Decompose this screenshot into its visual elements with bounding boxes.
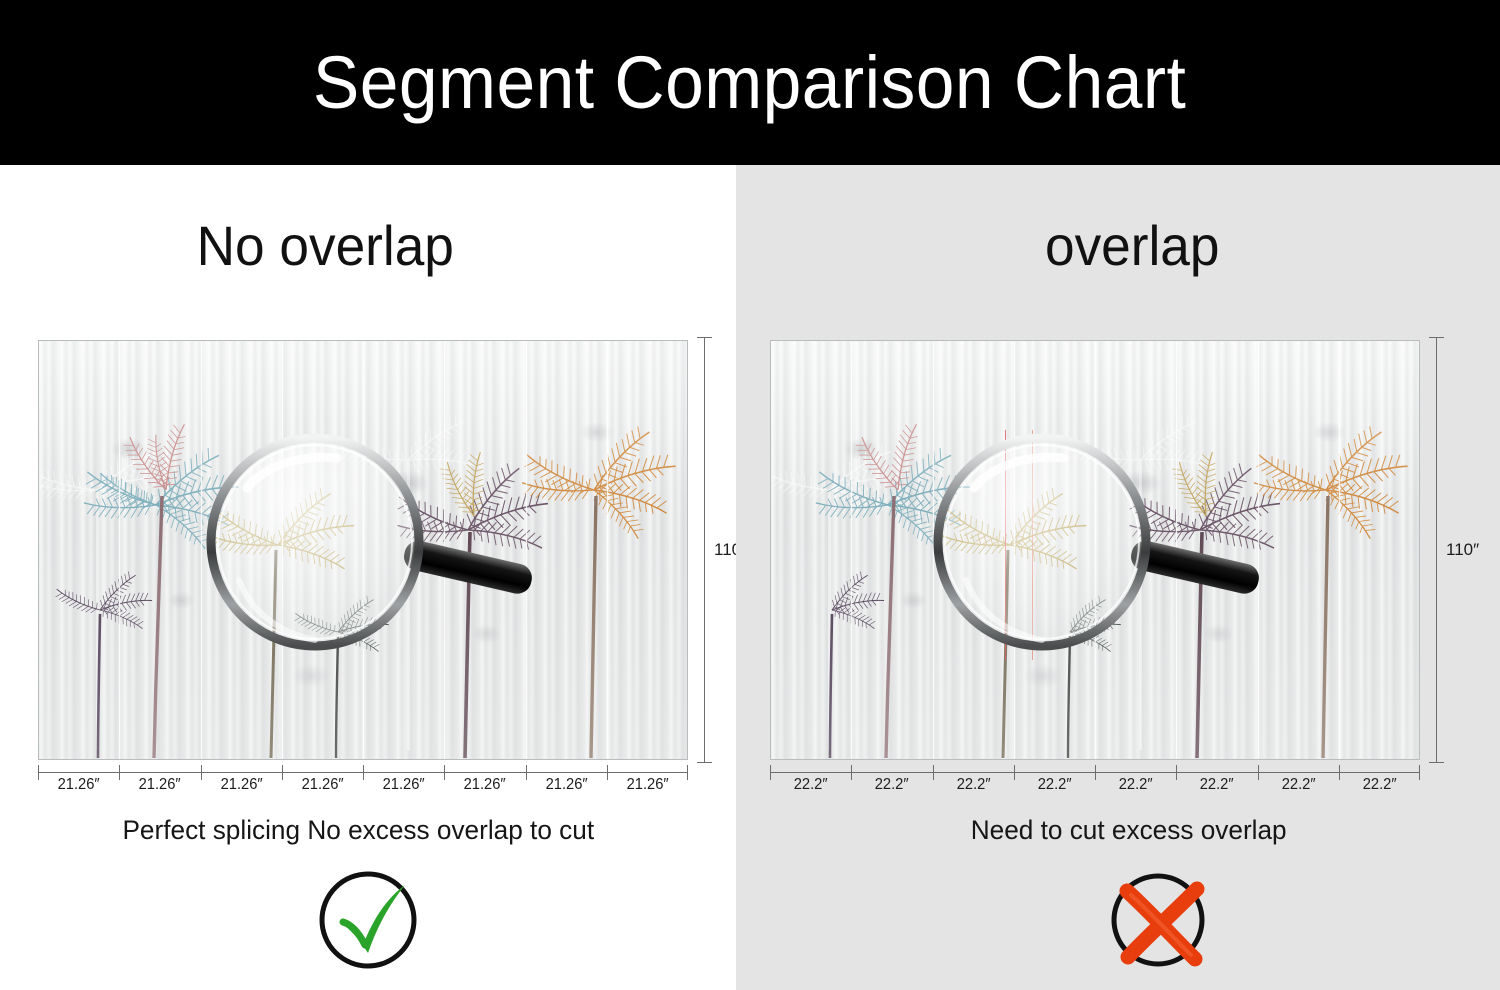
segment-width-label: 22.2″ bbox=[1261, 776, 1336, 794]
panel-heading-overlap: overlap bbox=[755, 213, 1481, 278]
segment-width-label: 22.2″ bbox=[1017, 776, 1092, 794]
segment-width-label: 22.2″ bbox=[936, 776, 1011, 794]
cross-circle-icon bbox=[1103, 865, 1213, 975]
verdict-no-overlap bbox=[0, 865, 776, 975]
segment-width-label: 22.2″ bbox=[855, 776, 930, 794]
segment-seam bbox=[851, 340, 852, 760]
segment-dimensions-overlap: 22.2″ 22.2″ 22.2″ 22.2″ 22.2″ 22.2″ 22.2… bbox=[770, 762, 1420, 808]
caption-no-overlap: Perfect splicing No excess overlap to cu… bbox=[11, 815, 725, 846]
mural-image-left bbox=[38, 340, 688, 760]
panel-heading-no-overlap: No overlap bbox=[18, 213, 717, 278]
check-circle-icon bbox=[313, 865, 423, 975]
dimension-cap-bottom bbox=[697, 762, 712, 763]
panel-overlap: overlap bbox=[736, 165, 1500, 990]
segment-width-label: 21.26″ bbox=[204, 776, 279, 794]
dimension-cap-bottom bbox=[1429, 762, 1444, 763]
segment-seam bbox=[1014, 340, 1015, 760]
caption-overlap: Need to cut excess overlap bbox=[747, 815, 1488, 846]
segment-seam bbox=[1095, 340, 1096, 760]
segment-comparison-chart: Segment Comparison Chart No overlap bbox=[0, 0, 1500, 990]
segment-width-label: 21.26″ bbox=[41, 776, 116, 794]
segment-width-label: 22.2″ bbox=[1180, 776, 1255, 794]
segment-width-label: 21.26″ bbox=[448, 776, 523, 794]
segment-width-labels: 21.26″ 21.26″ 21.26″ 21.26″ 21.26″ 21.26… bbox=[38, 776, 688, 794]
segment-width-label: 22.2″ bbox=[773, 776, 848, 794]
segment-width-label: 21.26″ bbox=[529, 776, 604, 794]
segment-seam bbox=[526, 340, 527, 760]
segment-seam bbox=[1339, 340, 1340, 760]
segment-width-label: 21.26″ bbox=[285, 776, 360, 794]
segment-seam bbox=[607, 340, 608, 760]
segment-seam bbox=[282, 340, 283, 760]
segment-seam bbox=[201, 340, 202, 760]
overlap-marker-line bbox=[1032, 430, 1033, 660]
segment-seam bbox=[1176, 340, 1177, 760]
panel-no-overlap: No overlap bbox=[0, 165, 736, 990]
title-banner: Segment Comparison Chart bbox=[0, 0, 1500, 165]
page-title: Segment Comparison Chart bbox=[313, 46, 1186, 120]
segment-width-labels: 22.2″ 22.2″ 22.2″ 22.2″ 22.2″ 22.2″ 22.2… bbox=[770, 776, 1420, 794]
segment-width-label: 21.26″ bbox=[366, 776, 441, 794]
comparison-panels: No overlap bbox=[0, 165, 1500, 990]
segment-seam bbox=[933, 340, 934, 760]
segment-seam bbox=[119, 340, 120, 760]
segment-width-label: 22.2″ bbox=[1342, 776, 1417, 794]
segment-seam bbox=[363, 340, 364, 760]
dimension-rule bbox=[704, 337, 705, 763]
dimension-cap-top bbox=[697, 337, 712, 338]
dimension-rule bbox=[1436, 337, 1437, 763]
overlap-marker-line bbox=[1005, 430, 1006, 660]
segment-width-label: 21.26″ bbox=[610, 776, 685, 794]
height-label: 110″ bbox=[1446, 540, 1479, 560]
mural-no-overlap bbox=[38, 340, 688, 760]
dimension-cap-top bbox=[1429, 337, 1444, 338]
segment-seam bbox=[1258, 340, 1259, 760]
segment-width-label: 22.2″ bbox=[1098, 776, 1173, 794]
segment-width-label: 21.26″ bbox=[123, 776, 198, 794]
mural-overlap bbox=[770, 340, 1420, 760]
segment-dimensions-no-overlap: 21.26″ 21.26″ 21.26″ 21.26″ 21.26″ 21.26… bbox=[38, 762, 688, 808]
verdict-overlap bbox=[736, 865, 1500, 975]
height-dimension-overlap: 110″ bbox=[1426, 337, 1486, 763]
segment-seam bbox=[444, 340, 445, 760]
mural-image-right bbox=[770, 340, 1420, 760]
